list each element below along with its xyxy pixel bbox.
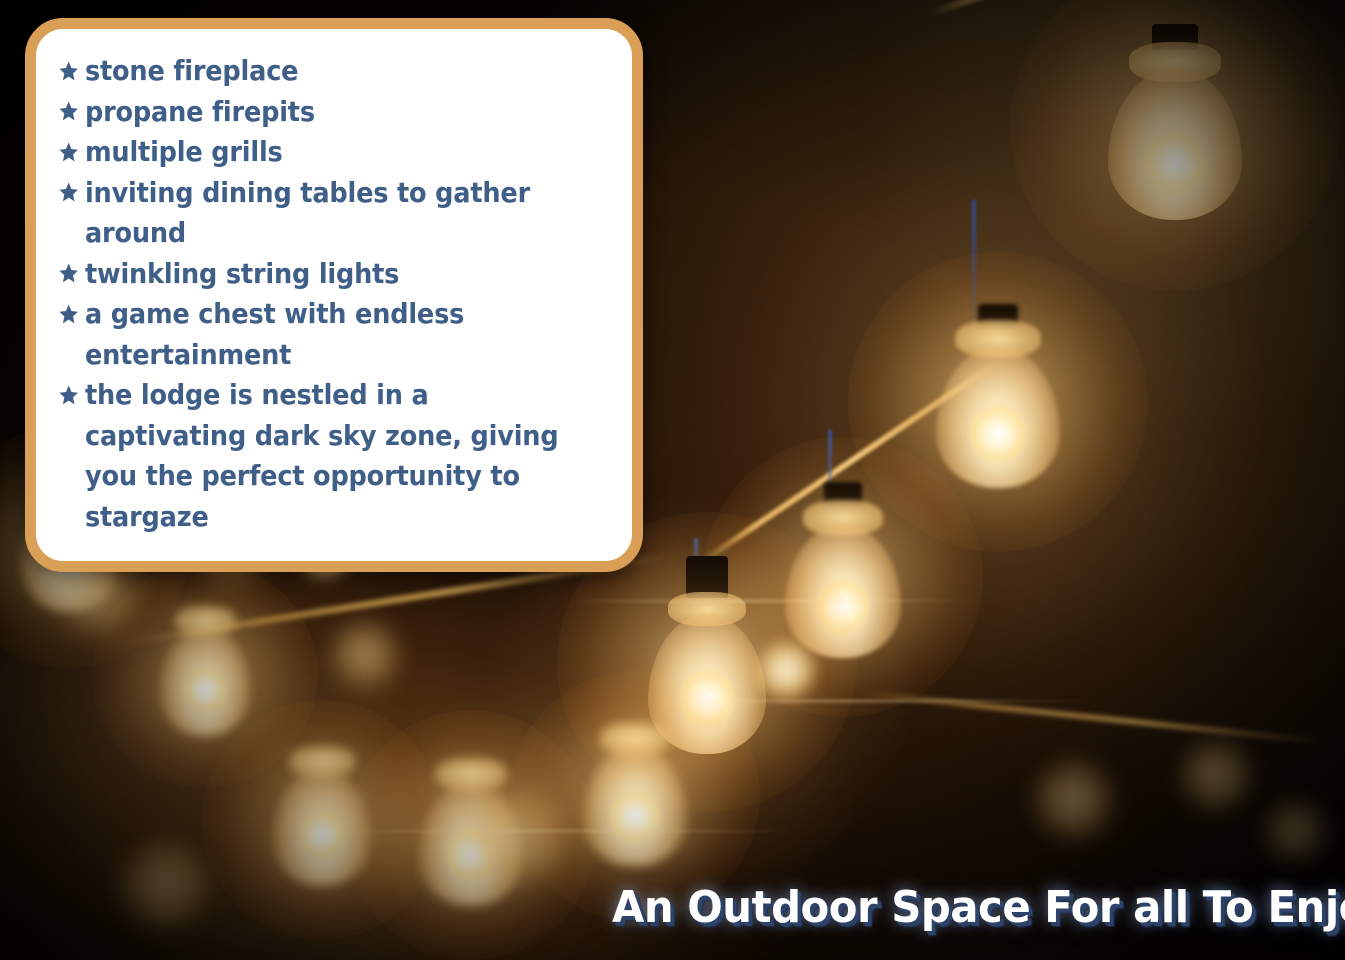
promo-image: stone fireplace propane firepits multipl… <box>0 0 1345 960</box>
list-item-label: multiple grills <box>85 132 568 173</box>
list-item-label: inviting dining tables to gather around <box>85 173 568 254</box>
light-bulb-lower-left-b <box>262 740 382 900</box>
star-icon <box>58 173 82 214</box>
bokeh-light-6 <box>470 790 566 886</box>
bokeh-light-5 <box>330 620 400 690</box>
list-item: multiple grills <box>58 132 568 173</box>
list-item: the lodge is nestled in a captivating da… <box>58 375 568 537</box>
list-item-label: twinkling string lights <box>85 254 568 295</box>
list-item: inviting dining tables to gather around <box>58 173 568 254</box>
light-bulb-lower-left-c <box>150 600 260 750</box>
star-icon <box>58 132 82 173</box>
star-icon <box>58 375 82 416</box>
list-item-label: the lodge is nestled in a captivating da… <box>85 375 568 537</box>
list-item: a game chest with endless entertainment <box>58 294 568 375</box>
light-bulb-top-right <box>1090 18 1260 233</box>
amenities-list: stone fireplace propane firepits multipl… <box>58 51 606 537</box>
bokeh-light-7 <box>1180 740 1252 812</box>
bokeh-light-8 <box>1264 800 1328 864</box>
lens-flare-3 <box>300 830 800 832</box>
lens-flare-2 <box>640 700 1100 702</box>
amenities-card: stone fireplace propane firepits multipl… <box>25 18 643 572</box>
bokeh-light-10 <box>120 840 210 930</box>
star-icon <box>58 254 82 295</box>
star-icon <box>58 51 82 92</box>
bokeh-light-9 <box>1034 760 1114 840</box>
list-item: stone fireplace <box>58 51 568 92</box>
star-icon <box>58 92 82 133</box>
bokeh-light-2 <box>756 640 816 700</box>
tagline-caption: An Outdoor Space For all To Enjoy! <box>612 884 1345 932</box>
list-item-label: propane firepits <box>85 92 568 133</box>
list-item-label: stone fireplace <box>85 51 568 92</box>
star-icon <box>58 294 82 335</box>
list-item: propane firepits <box>58 92 568 133</box>
light-bulb-middle-right <box>918 302 1078 502</box>
list-item: twinkling string lights <box>58 254 568 295</box>
list-item-label: a game chest with endless entertainment <box>85 294 568 375</box>
lens-flare-1 <box>560 600 980 602</box>
